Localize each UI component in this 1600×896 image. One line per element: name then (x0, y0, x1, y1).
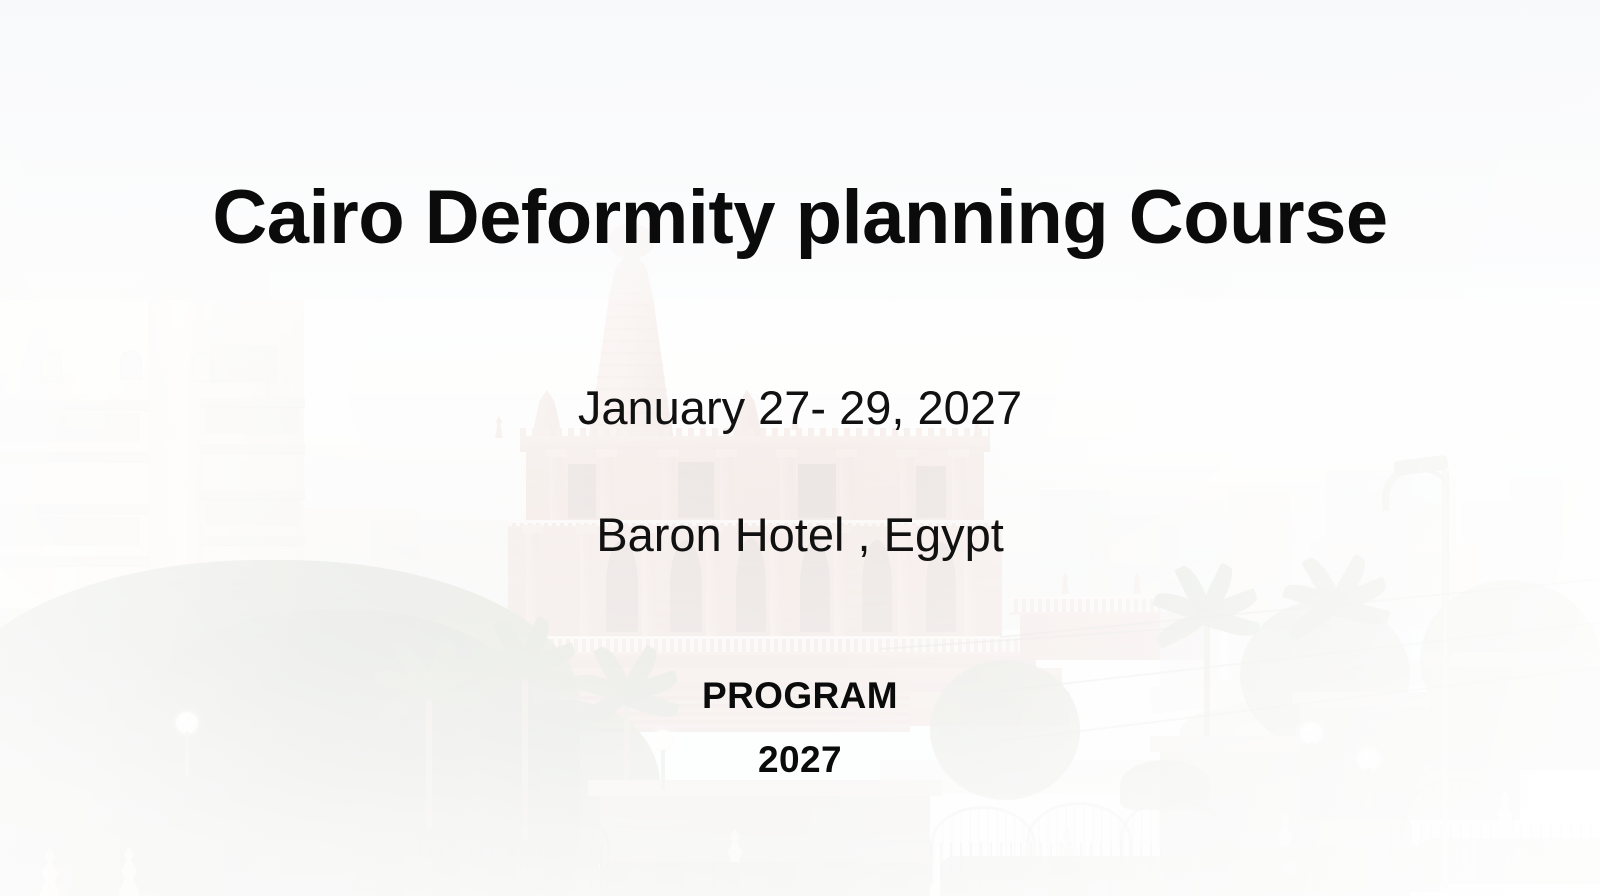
course-title: Cairo Deformity planning Course (0, 176, 1600, 260)
course-dates: January 27- 29, 2027 (0, 381, 1600, 435)
program-label: PROGRAM (0, 674, 1600, 718)
course-venue: Baron Hotel , Egypt (0, 508, 1600, 562)
program-year: 2027 (0, 738, 1600, 782)
text-layer: Cairo Deformity planning Course January … (0, 0, 1600, 896)
title-slide: Cairo Deformity planning Course January … (0, 0, 1600, 896)
